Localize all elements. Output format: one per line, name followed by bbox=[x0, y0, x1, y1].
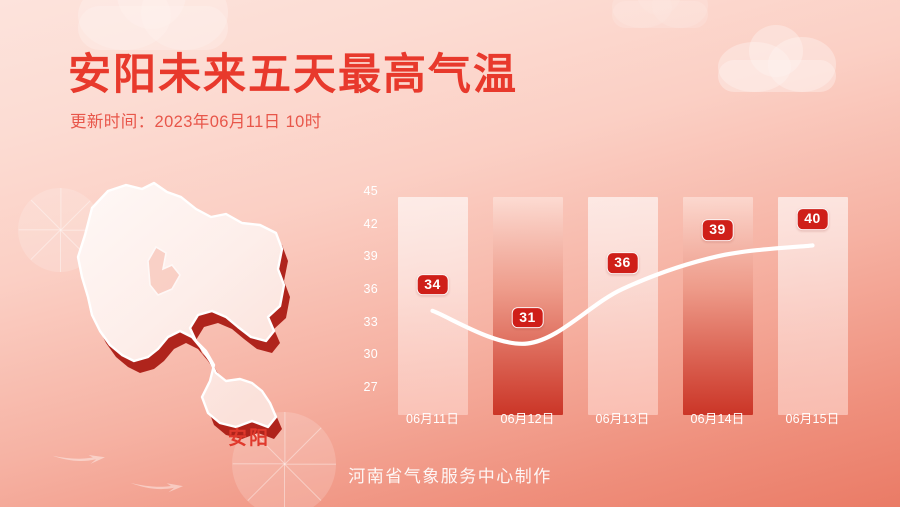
page-title: 安阳未来五天最高气温 bbox=[68, 40, 518, 102]
infographic-page: 安阳未来五天最高气温 更新时间：2023年06月11日 10时 安阳 27303… bbox=[0, 0, 900, 507]
plot-area: 3431363940 bbox=[385, 180, 860, 415]
data-point-label: 36 bbox=[606, 252, 639, 274]
y-axis-tick: 45 bbox=[344, 184, 378, 198]
data-point-label: 31 bbox=[511, 307, 544, 329]
cloud-icon bbox=[612, 0, 708, 28]
anyang-map: 安阳 bbox=[30, 165, 330, 465]
data-point-label: 34 bbox=[416, 274, 449, 296]
x-axis: 06月11日06月12日06月13日06月14日06月15日 bbox=[385, 408, 860, 430]
y-axis-tick: 36 bbox=[344, 282, 378, 296]
data-point-label: 39 bbox=[701, 219, 734, 241]
map-region-label: 安阳 bbox=[228, 423, 270, 450]
map-shape bbox=[30, 165, 330, 465]
x-axis-tick: 06月11日 bbox=[406, 408, 459, 427]
x-axis-tick: 06月15日 bbox=[785, 408, 839, 427]
y-axis-tick: 30 bbox=[344, 347, 378, 361]
footer-credit: 河南省气象服务中心制作 bbox=[0, 462, 900, 487]
y-axis-tick: 39 bbox=[344, 249, 378, 263]
y-axis-tick: 42 bbox=[344, 217, 378, 231]
data-point-label: 40 bbox=[796, 209, 829, 231]
y-axis: 27303336394245 bbox=[340, 180, 378, 415]
x-axis-tick: 06月14日 bbox=[690, 408, 744, 427]
update-time: 更新时间：2023年06月11日 10时 bbox=[70, 108, 322, 132]
x-axis-tick: 06月13日 bbox=[595, 408, 649, 427]
y-axis-tick: 33 bbox=[344, 315, 378, 329]
x-axis-tick: 06月12日 bbox=[500, 408, 554, 427]
temperature-chart: 27303336394245 3431363940 06月11日06月12日06… bbox=[340, 180, 860, 415]
cloud-icon bbox=[718, 22, 836, 92]
y-axis-tick: 27 bbox=[344, 380, 378, 394]
temperature-line bbox=[385, 180, 860, 415]
